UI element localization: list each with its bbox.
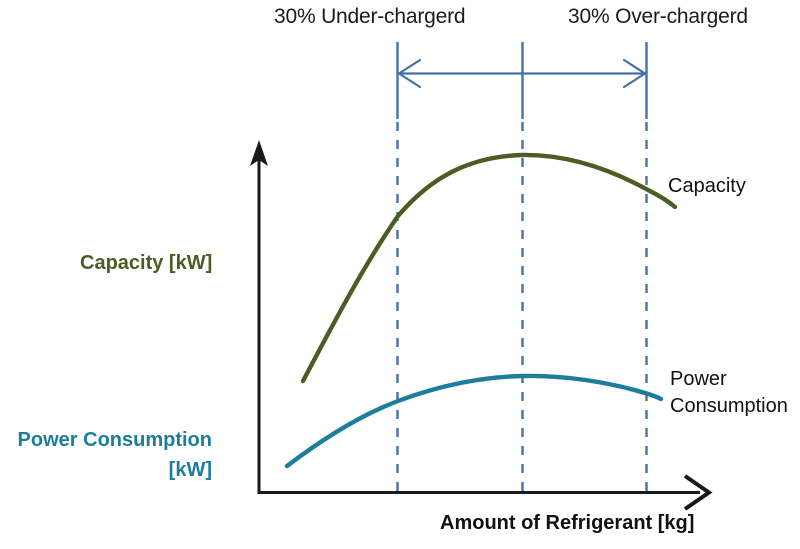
power-axis-title-line1: Power Consumption bbox=[8, 425, 212, 455]
x-axis-title: Amount of Refrigerant [kg] bbox=[440, 512, 694, 535]
power-curve-label: Power Consumption bbox=[670, 366, 788, 420]
power-axis-title: Power Consumption [kW] bbox=[8, 425, 212, 485]
y-axis bbox=[250, 140, 268, 493]
power-curve-label-line2: Consumption bbox=[670, 393, 788, 420]
power-consumption-curve bbox=[287, 376, 661, 466]
refrigerant-charge-chart: 30% Under-chargerd 30% Over-chargerd bbox=[0, 0, 800, 549]
reference-line-group-solid bbox=[398, 42, 647, 119]
capacity-curve bbox=[303, 155, 675, 381]
capacity-curve-label: Capacity bbox=[668, 173, 746, 200]
x-axis bbox=[258, 476, 710, 509]
power-curve-label-line1: Power bbox=[670, 366, 788, 393]
power-axis-title-line2: [kW] bbox=[8, 455, 212, 485]
capacity-axis-title: Capacity [kW] bbox=[80, 252, 212, 275]
reference-line-group-dashed bbox=[398, 122, 647, 492]
